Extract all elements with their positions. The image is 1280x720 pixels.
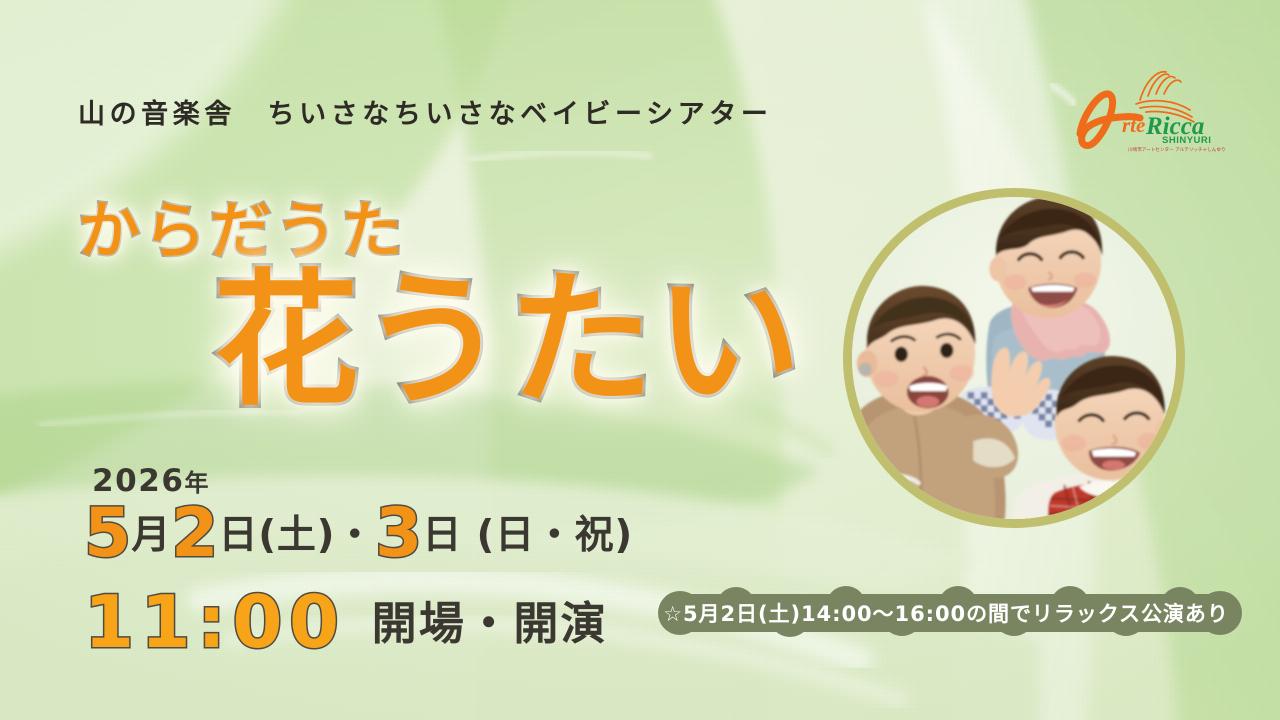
time-value: 11:00: [84, 580, 346, 664]
event-date: 5月2日(土)・3日 (日・祝): [84, 500, 633, 568]
day2-unit: 日 (日・祝): [422, 513, 633, 558]
logo-rte: rte: [1122, 113, 1145, 137]
logo-shinyuri: SHINYURI: [1162, 135, 1211, 146]
month-unit: 月: [131, 513, 171, 558]
poster-canvas: 山の音楽舎 ちいさなちいさなベイビーシアター からだうた 花うたい 2026年 …: [0, 0, 1280, 720]
arte-ricca-logo: rte Ricca SHINYURI 川崎市アートセンター アルテリッチャしんゆ…: [1070, 60, 1230, 156]
day2-number: 3: [375, 494, 422, 573]
logo-tiny-caption: 川崎市アートセンター アルテリッチャしんゆり: [1128, 146, 1226, 153]
day1-unit: 日(土)・: [218, 513, 375, 558]
babies-photo: [843, 188, 1185, 528]
event-time: 11:00開場・開演: [84, 586, 608, 658]
time-label: 開場・開演: [372, 597, 608, 650]
event-subtitle: 山の音楽舎 ちいさなちいさなベイビーシアター: [78, 92, 918, 131]
relax-performance-banner: ☆5月2日(土)14:00〜16:00の間でリラックス公演あり: [640, 586, 1252, 640]
day1-number: 2: [171, 494, 218, 573]
month-number: 5: [84, 494, 131, 573]
year-unit: 年: [184, 469, 210, 497]
relax-note-text: ☆5月2日(土)14:00〜16:00の間でリラックス公演あり: [640, 586, 1252, 640]
page-title: 花うたい: [213, 268, 803, 414]
